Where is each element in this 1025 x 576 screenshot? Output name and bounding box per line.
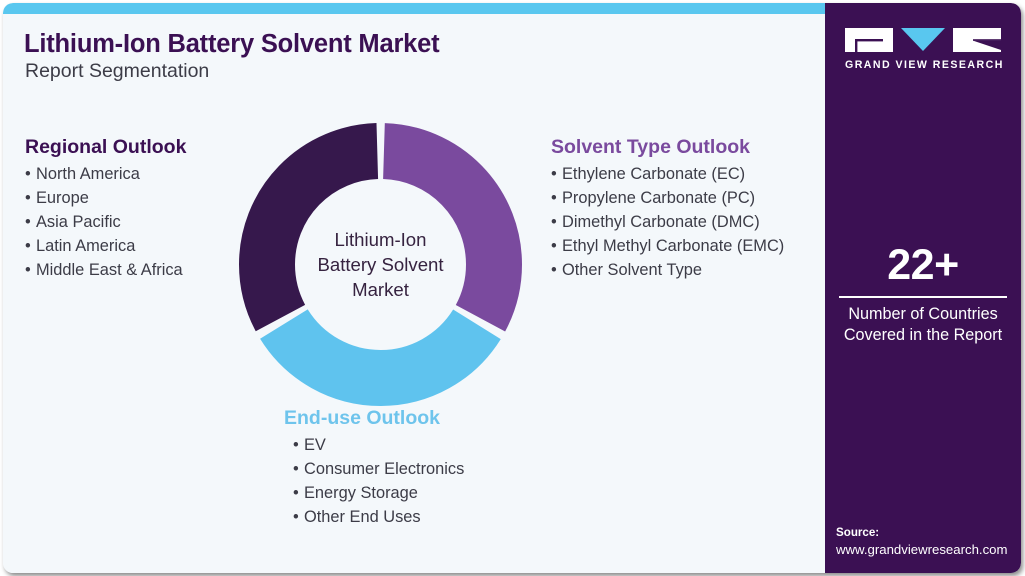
bullet-icon: • <box>551 258 562 282</box>
list-item-label: North America <box>36 165 140 183</box>
list-item-label: Other Solvent Type <box>562 261 702 279</box>
solvent-type-outlook-heading: Solvent Type Outlook <box>551 136 784 159</box>
list-item-label: Europe <box>36 189 89 207</box>
bullet-icon: • <box>25 186 36 210</box>
end-use-outlook-list: •EV •Consumer Electronics •Energy Storag… <box>284 433 464 529</box>
regional-outlook-list: •North America •Europe •Asia Pacific •La… <box>25 162 186 282</box>
regional-outlook-block: Regional Outlook •North America •Europe … <box>25 136 186 282</box>
bullet-icon: • <box>293 481 304 505</box>
solvent-type-outlook-block: Solvent Type Outlook •Ethylene Carbonate… <box>551 136 784 282</box>
list-item: •North America <box>25 162 186 186</box>
stat-label-line-2: Covered in the Report <box>835 325 1011 346</box>
list-item: •Energy Storage <box>293 481 464 505</box>
list-item-label: Asia Pacific <box>36 213 121 231</box>
stat-divider <box>839 296 1007 298</box>
stat-label-line-1: Number of Countries <box>835 304 1011 325</box>
list-item: •Propylene Carbonate (PC) <box>551 186 784 210</box>
list-item-label: Other End Uses <box>304 508 421 526</box>
end-use-outlook-block: End-use Outlook •EV •Consumer Electronic… <box>284 407 464 529</box>
list-item: •Consumer Electronics <box>293 457 464 481</box>
list-item-label: Consumer Electronics <box>304 460 464 478</box>
list-item-label: Ethyl Methyl Carbonate (EMC) <box>562 237 784 255</box>
list-item-label: Dimethyl Carbonate (DMC) <box>562 213 760 231</box>
bullet-icon: • <box>551 162 562 186</box>
list-item: •Other End Uses <box>293 505 464 529</box>
regional-outlook-heading: Regional Outlook <box>25 136 186 159</box>
donut-center-label: Lithium-Ion Battery Solvent Market <box>239 123 522 406</box>
bullet-icon: • <box>25 162 36 186</box>
bullet-icon: • <box>25 234 36 258</box>
bullet-icon: • <box>551 186 562 210</box>
list-item: •Latin America <box>25 234 186 258</box>
top-accent-bar <box>3 3 825 14</box>
bullet-icon: • <box>551 234 562 258</box>
stat-number: 22+ <box>835 241 1011 289</box>
list-item-label: Ethylene Carbonate (EC) <box>562 165 745 183</box>
list-item-label: Middle East & Africa <box>36 261 183 279</box>
list-item: •Dimethyl Carbonate (DMC) <box>551 210 784 234</box>
source-label: Source: <box>836 524 1021 541</box>
list-item: •Europe <box>25 186 186 210</box>
content-area: Lithium-Ion Battery Solvent Market Repor… <box>3 14 825 573</box>
list-item-label: Propylene Carbonate (PC) <box>562 189 755 207</box>
list-item-label: Energy Storage <box>304 484 418 502</box>
logo-caption: GRAND VIEW RESEARCH <box>845 59 1001 71</box>
list-item-label: Latin America <box>36 237 135 255</box>
infographic-card: Lithium-Ion Battery Solvent Market Repor… <box>3 3 1021 573</box>
bullet-icon: • <box>25 210 36 234</box>
donut-center-line-2: Battery Solvent <box>317 252 443 277</box>
list-item: •Ethyl Methyl Carbonate (EMC) <box>551 234 784 258</box>
page-subtitle: Report Segmentation <box>25 60 209 83</box>
donut-center-line-1: Lithium-Ion <box>335 227 427 252</box>
grand-view-research-logo-icon <box>845 28 1001 52</box>
list-item-label: EV <box>304 436 326 454</box>
bullet-icon: • <box>293 433 304 457</box>
end-use-outlook-heading: End-use Outlook <box>284 407 464 430</box>
sidebar: GRAND VIEW RESEARCH 22+ Number of Countr… <box>825 3 1021 573</box>
bullet-icon: • <box>551 210 562 234</box>
list-item: •Ethylene Carbonate (EC) <box>551 162 784 186</box>
page-title: Lithium-Ion Battery Solvent Market <box>24 30 439 59</box>
donut-chart: Lithium-Ion Battery Solvent Market <box>239 123 522 406</box>
bullet-icon: • <box>25 258 36 282</box>
bullet-icon: • <box>293 457 304 481</box>
donut-center-line-3: Market <box>352 277 409 302</box>
infographic-root: Lithium-Ion Battery Solvent Market Repor… <box>0 0 1025 576</box>
bullet-icon: • <box>293 505 304 529</box>
source-url[interactable]: www.grandviewresearch.com <box>836 541 1021 559</box>
list-item: •EV <box>293 433 464 457</box>
list-item: •Other Solvent Type <box>551 258 784 282</box>
list-item: •Asia Pacific <box>25 210 186 234</box>
list-item: •Middle East & Africa <box>25 258 186 282</box>
brand-logo: GRAND VIEW RESEARCH <box>845 28 1001 64</box>
logo-mark-svg <box>845 28 1001 52</box>
solvent-type-outlook-list: •Ethylene Carbonate (EC) •Propylene Carb… <box>551 162 784 282</box>
source-block: Source: www.grandviewresearch.com <box>836 524 1021 559</box>
stat-block: 22+ Number of Countries Covered in the R… <box>835 241 1011 346</box>
